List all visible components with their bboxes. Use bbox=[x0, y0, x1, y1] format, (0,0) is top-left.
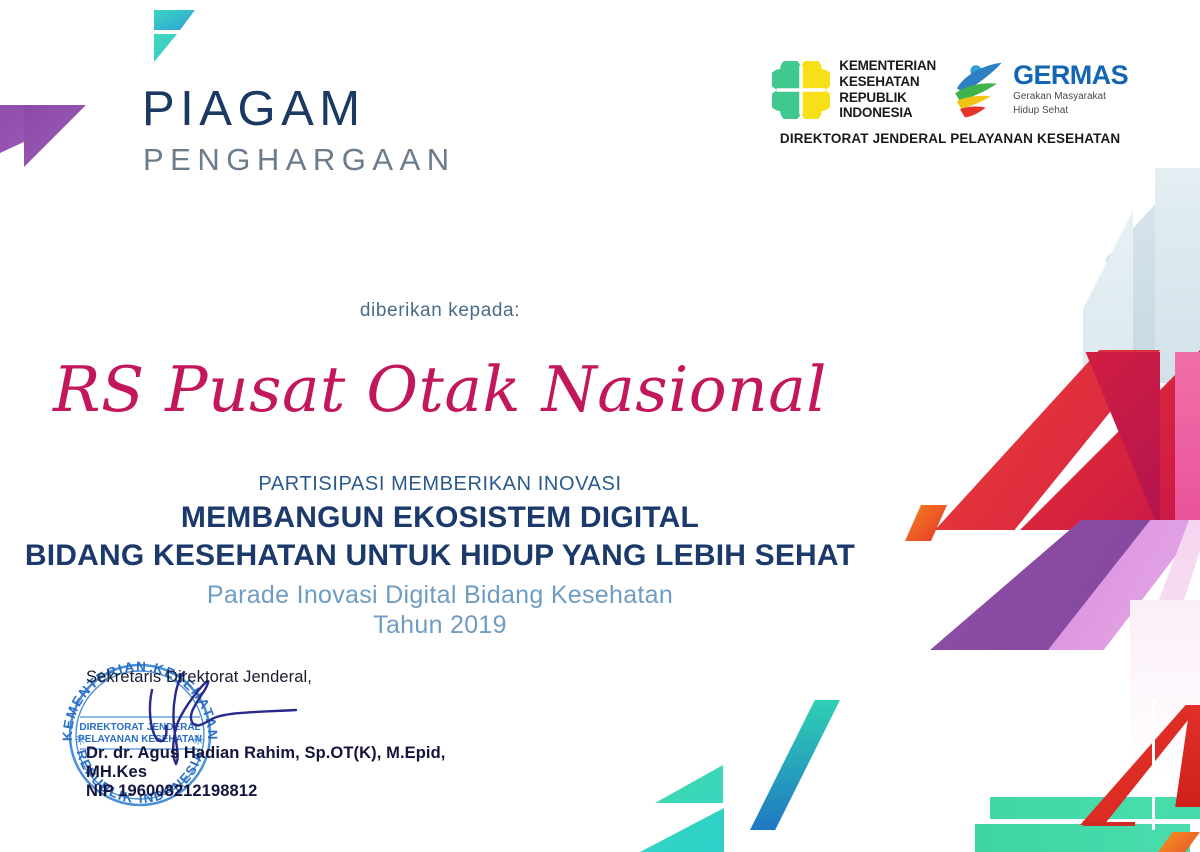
stamp-star-left: ✳ bbox=[74, 732, 87, 749]
signatory-nip: NIP 196008212198812 bbox=[86, 782, 506, 801]
decor-pale-pink-band bbox=[1140, 520, 1200, 650]
logos-row: KEMENTERIAN KESEHATAN REPUBLIK INDONESIA… bbox=[772, 58, 1128, 121]
decor-red-diagonal-edge bbox=[1168, 705, 1200, 807]
germas-logo: GERMAS Gerakan Masyarakat Hidup Sehat bbox=[952, 61, 1128, 119]
decor-red-diagonal-bottom-right bbox=[1080, 705, 1200, 825]
germas-name: GERMAS bbox=[1013, 62, 1128, 89]
decor-red-band-inner bbox=[1040, 352, 1160, 532]
decor-green-bar-lower bbox=[975, 824, 1190, 852]
event-name: Parade Inovasi Digital Bidang Kesehatan bbox=[0, 582, 880, 610]
kemenkes-line-4: INDONESIA bbox=[839, 105, 936, 121]
decor-red-band bbox=[1020, 350, 1200, 530]
decor-green-bar-right bbox=[1160, 797, 1200, 819]
decor-pink-sliver bbox=[1165, 352, 1200, 532]
decor-purple-left-upper bbox=[0, 105, 30, 167]
piagam-subtitle: PENGHARGAAN bbox=[143, 144, 456, 175]
event-year: Tahun 2019 bbox=[0, 612, 880, 640]
signatory-identity: Dr. dr. Agus Hadian Rahim, Sp.OT(K), M.E… bbox=[86, 744, 506, 801]
decor-orange-bottom-right bbox=[1158, 832, 1200, 852]
germas-tagline-1: Gerakan Masyarakat bbox=[1013, 91, 1128, 104]
kemenkes-line-1: KEMENTERIAN bbox=[839, 58, 936, 74]
decor-green-triangle-upper bbox=[655, 765, 723, 803]
germas-wordmark: GERMAS Gerakan Masyarakat Hidup Sehat bbox=[1013, 62, 1128, 118]
directorate-line: DIREKTORAT JENDERAL PELAYANAN KESEHATAN bbox=[772, 131, 1128, 146]
decor-orange-sliver bbox=[905, 505, 947, 541]
kemenkes-line-2: KESEHATAN bbox=[839, 74, 936, 90]
signatory-role: Sekretaris Direktorat Jenderal, bbox=[86, 668, 506, 687]
decor-lightblue-band-1 bbox=[1106, 168, 1200, 383]
germas-tagline-2: Hidup Sehat bbox=[1013, 105, 1128, 118]
decor-purple-band bbox=[930, 520, 1200, 650]
germas-figure-logo-icon bbox=[952, 61, 1008, 119]
decor-green-bar-upper bbox=[990, 797, 1190, 819]
certificate-page: PIAGAM PENGHARGAAN bbox=[0, 0, 1200, 852]
decor-red-underline bbox=[1083, 822, 1135, 826]
piagam-chevron-logo-icon bbox=[140, 8, 198, 64]
decor-red-band-outer bbox=[935, 350, 1200, 530]
recipient-name: RS Pusat Otak Nasional bbox=[0, 358, 880, 421]
decor-teal-diagonal bbox=[750, 700, 840, 830]
signatory-name: Dr. dr. Agus Hadian Rahim, Sp.OT(K), M.E… bbox=[86, 744, 506, 782]
decor-purple-left-lower bbox=[24, 105, 86, 167]
decor-green-triangle-lower bbox=[640, 808, 724, 852]
award-title-line-2: BIDANG KESEHATAN UNTUK HIDUP YANG LEBIH … bbox=[0, 540, 880, 572]
award-title-line-1: MEMBANGUN EKOSISTEM DIGITAL bbox=[0, 502, 880, 534]
decor-lightblue-band-3 bbox=[1083, 210, 1133, 390]
decor-white-divider-line bbox=[1152, 700, 1155, 830]
signature-block: Sekretaris Direktorat Jenderal, Dr. dr. … bbox=[86, 668, 506, 687]
institution-logos: KEMENTERIAN KESEHATAN REPUBLIK INDONESIA… bbox=[772, 58, 1128, 146]
kemenkes-line-3: REPUBLIK bbox=[839, 90, 936, 106]
piagam-title: PIAGAM bbox=[142, 85, 456, 134]
decor-very-pale-pink bbox=[1130, 600, 1200, 780]
award-intro: PARTISIPASI MEMBERIKAN INOVASI bbox=[0, 473, 880, 496]
decor-purple-band-light bbox=[1048, 520, 1200, 650]
kemenkes-wordmark: KEMENTERIAN KESEHATAN REPUBLIK INDONESIA bbox=[839, 58, 936, 121]
decor-lightblue-band-2 bbox=[1155, 168, 1200, 383]
certificate-body: diberikan kepada: RS Pusat Otak Nasional… bbox=[0, 300, 880, 639]
given-to-label: diberikan kepada: bbox=[0, 300, 880, 322]
kemenkes-logo: KEMENTERIAN KESEHATAN REPUBLIK INDONESIA bbox=[772, 58, 936, 121]
piagam-header: PIAGAM PENGHARGAAN bbox=[140, 8, 456, 175]
kemenkes-clover-logo-icon bbox=[772, 61, 830, 119]
